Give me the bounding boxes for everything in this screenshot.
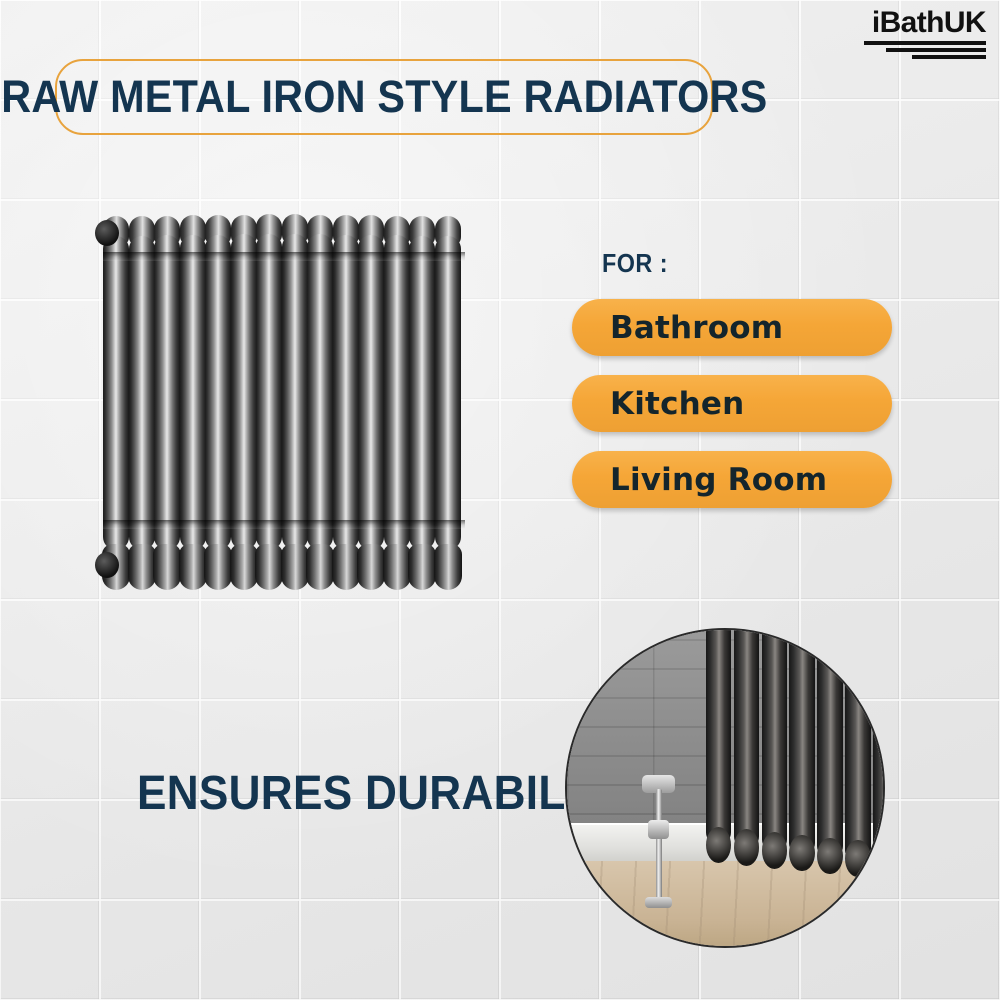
photo-radiator-column [845,636,870,864]
radiator-column-foot [128,544,156,590]
logo-bar-2 [886,48,986,52]
radiator-column [103,236,129,550]
logo-bar-3 [912,55,986,59]
for-section: FOR : Bathroom Kitchen Living Room [572,248,902,527]
radiator-column-foot [281,544,309,590]
valve-base [645,897,672,908]
use-case-label: Bathroom [610,310,783,346]
photo-radiator-column [706,628,731,845]
radiator-column-foot [179,544,207,590]
radiator-column [307,234,333,550]
use-case-label: Kitchen [610,386,744,422]
radiator-bleed-valve [95,220,119,246]
radiator-column [333,235,359,550]
brand-logo-text: iBathUK [864,8,986,38]
radiator-column-foot [332,544,360,590]
photo-scene [567,630,883,946]
radiator-column-foot [408,544,436,590]
use-case-pill-living-room[interactable]: Living Room [572,451,892,508]
radiator-column [409,236,435,550]
photo-radiator-column [762,628,787,852]
radiator-column [435,236,461,550]
photo-radiator-column [734,628,759,849]
radiator-manifold-band [103,520,465,529]
radiator-column [256,234,282,550]
photo-radiator-foot [789,835,814,871]
radiator-column-foot [357,544,385,590]
logo-bar-1 [864,41,986,45]
wood-floor [567,861,883,946]
radiator-column [231,234,257,550]
use-case-pill-kitchen[interactable]: Kitchen [572,375,892,432]
radiator-valve-closeup-photo [565,628,885,948]
valve-stem [656,789,662,908]
radiator-column [282,234,308,550]
use-case-pill-bathroom[interactable]: Bathroom [572,299,892,356]
radiator-column-foot [204,544,232,590]
radiator-column-foot [306,544,334,590]
for-label: FOR : [602,248,872,279]
use-case-label: Living Room [610,462,827,498]
product-image-radiator [103,208,465,590]
radiator-column [180,235,206,550]
radiator-column [154,235,180,550]
radiator-manifold-band [103,252,465,261]
radiator-column [384,235,410,550]
radiator-column [358,235,384,550]
photo-radiator-foot [845,840,870,876]
radiator-column-foot [383,544,411,590]
radiator-column-foot [255,544,283,590]
radiator-column-foot [153,544,181,590]
radiator-column-foot [230,544,258,590]
photo-radiator [706,628,885,845]
photo-radiator-column [817,632,842,860]
photo-radiator-foot [734,829,759,865]
valve-body [648,820,669,839]
photo-radiator-foot [817,838,842,874]
radiator-column-foot [434,544,462,590]
page-title-box: RAW METAL IRON STYLE RADIATORS [55,59,713,135]
page-title: RAW METAL IRON STYLE RADIATORS [1,71,767,123]
radiator-column [205,235,231,550]
chrome-valve [646,775,671,908]
brand-logo: iBathUK [864,8,986,59]
radiator-column [129,236,155,550]
photo-radiator-foot [762,832,787,868]
radiator-body [103,208,465,590]
tagline: ENSURES DURABILITY [137,766,635,821]
radiator-end-plug [95,552,119,578]
photo-radiator-column [789,628,814,856]
